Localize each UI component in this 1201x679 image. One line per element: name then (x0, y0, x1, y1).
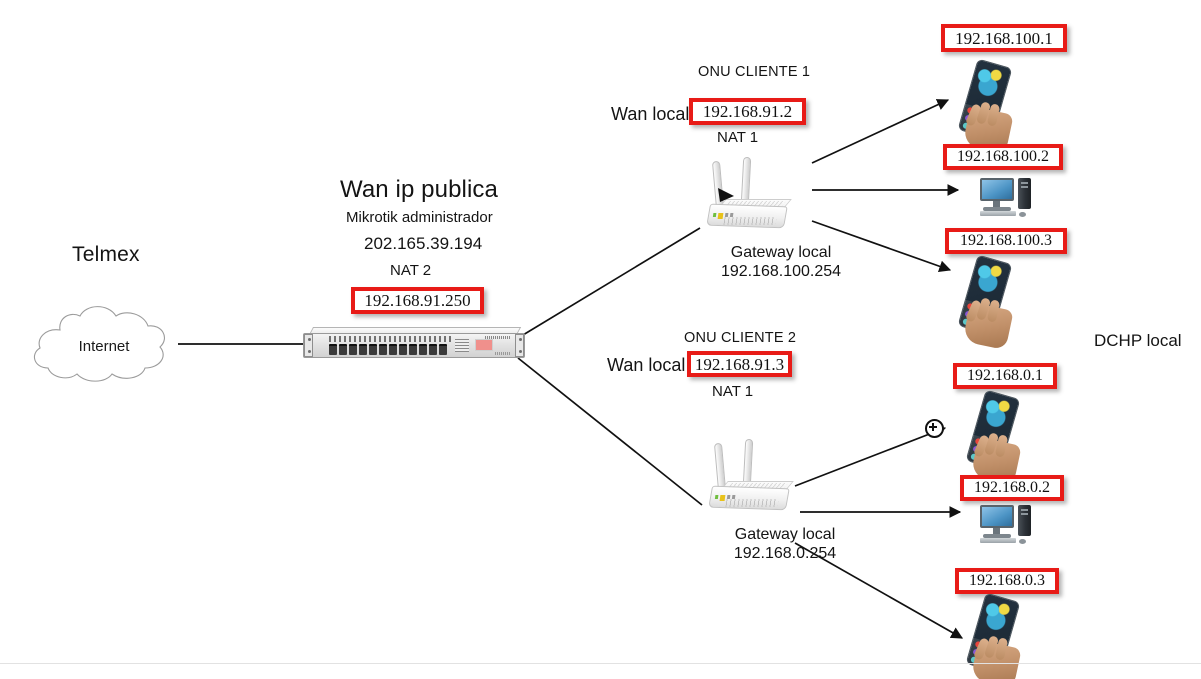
onu1-host1-smartphone-icon (958, 62, 1020, 150)
core-heading: Wan ip publica (340, 176, 498, 204)
onu2-wan-ip-box: 192.168.91.3 (687, 351, 792, 377)
onu2-host2-desktop-pc-icon (978, 503, 1036, 545)
onu1-wan-ip-box: 192.168.91.2 (689, 98, 806, 125)
onu2-host1-smartphone-icon (966, 393, 1028, 481)
internet-cloud-label: Internet (34, 338, 174, 355)
link-mikrotik-to-onu2 (518, 358, 702, 505)
onu1-host1-ip-box: 192.168.100.1 (941, 24, 1067, 52)
onu1-router-pointer-icon (716, 186, 742, 208)
onu1-wan-label: Wan local (611, 104, 689, 125)
onu2-host2-ip-box: 192.168.0.2 (960, 475, 1064, 501)
dhcp-local-label: DCHP local (1094, 331, 1182, 351)
onu1-wifi-router-icon (698, 155, 794, 247)
onu2-gateway-block: Gateway local 192.168.0.254 (690, 525, 880, 563)
onu1-gateway-label: Gateway local (686, 243, 876, 262)
onu1-title: ONU CLIENTE 1 (698, 64, 810, 80)
onu2-host3-ip-box: 192.168.0.3 (955, 568, 1059, 594)
onu2-gateway-ip: 192.168.0.254 (690, 544, 880, 563)
onu1-host3-smartphone-icon (958, 258, 1020, 346)
move-handle-icon[interactable] (925, 419, 944, 438)
core-nat-label: NAT 2 (390, 262, 431, 279)
onu2-wan-label: Wan local (607, 355, 685, 376)
rack-router-icon (303, 327, 525, 361)
onu1-host3-ip-box: 192.168.100.3 (945, 228, 1067, 254)
link-onu1-host1 (812, 100, 948, 163)
network-diagram-canvas: Telmex Internet Wan ip publica Mikrotik … (0, 0, 1201, 679)
onu2-wifi-router-icon (700, 437, 796, 529)
internet-cloud: Internet (34, 300, 174, 388)
core-lan-ip-box: 192.168.91.250 (351, 287, 484, 314)
onu1-host2-desktop-pc-icon (978, 176, 1036, 218)
onu2-title: ONU CLIENTE 2 (684, 330, 796, 346)
onu2-gateway-label: Gateway local (690, 525, 880, 544)
onu2-nat-label: NAT 1 (712, 383, 753, 400)
onu1-gateway-block: Gateway local 192.168.100.254 (686, 243, 876, 281)
link-onu2-host1 (795, 428, 945, 486)
onu2-host3-smartphone-icon (966, 596, 1028, 679)
onu1-host2-ip-box: 192.168.100.2 (943, 144, 1063, 170)
core-role: Mikrotik administrador (346, 209, 493, 226)
link-mikrotik-to-onu1 (518, 228, 700, 338)
onu1-nat-label: NAT 1 (717, 129, 758, 146)
core-public-ip: 202.165.39.194 (364, 234, 482, 254)
bottom-divider (0, 663, 1201, 664)
onu2-host1-ip-box: 192.168.0.1 (953, 363, 1057, 389)
onu1-gateway-ip: 192.168.100.254 (686, 262, 876, 281)
isp-title: Telmex (72, 243, 140, 267)
